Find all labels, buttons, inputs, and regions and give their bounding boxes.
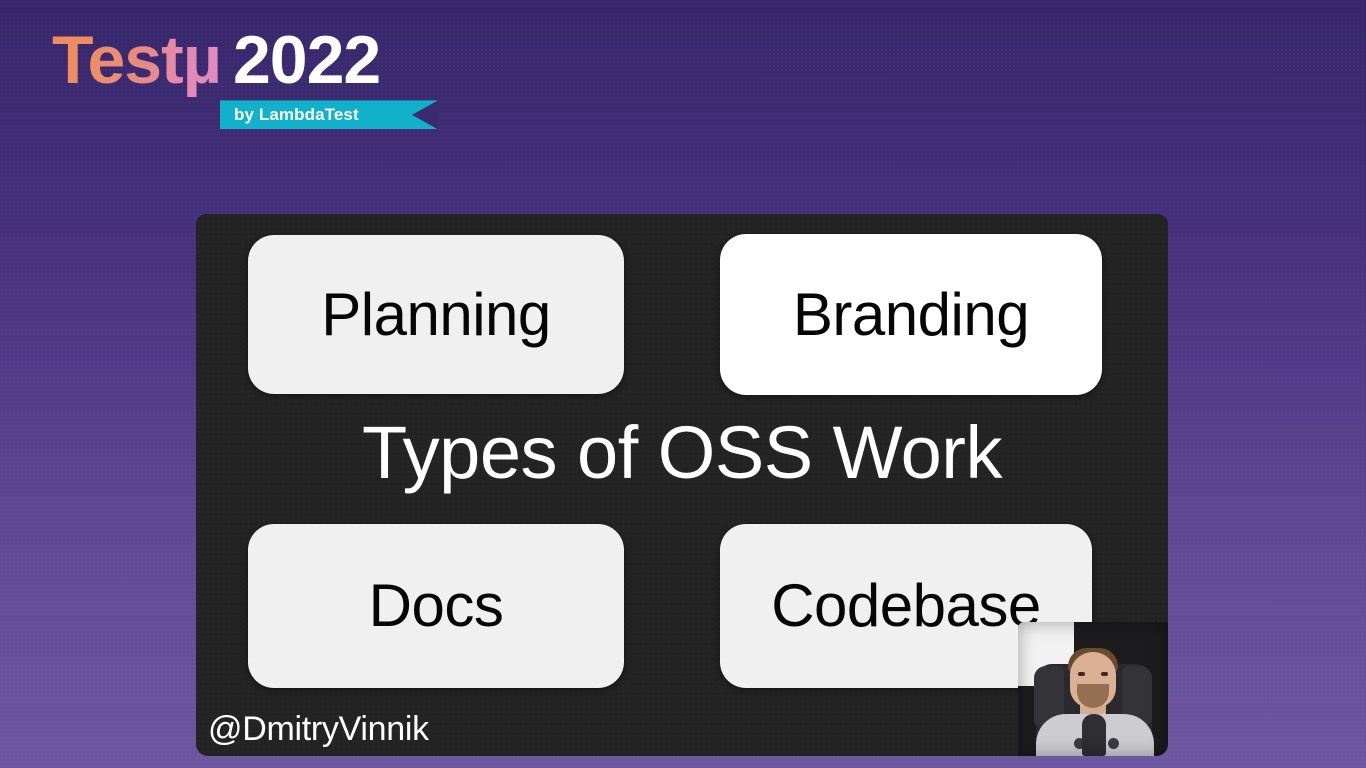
card-docs-label: Docs [369,576,504,636]
speaker-handle: @DmitryVinnik [208,710,429,749]
card-branding-label: Branding [793,285,1029,345]
webcam-microphone-mount-right [1108,738,1119,749]
presentation-slide: Planning Branding Types of OSS Work Docs… [196,214,1168,756]
microphone-icon [1082,714,1106,756]
card-docs: Docs [248,524,624,688]
slide-title: Types of OSS Work [196,416,1168,490]
event-logo-ribbon-label: by LambdaTest [234,105,359,125]
webcam-person-eye-left [1078,672,1085,676]
event-logo-wordmark: Testµ2022 [52,26,452,95]
card-codebase-label: Codebase [771,576,1041,636]
event-logo: Testµ2022 by LambdaTest [52,26,452,129]
event-logo-wordmark-year: 2022 [233,22,380,98]
card-branding: Branding [720,234,1102,395]
speaker-webcam-feed [1018,622,1168,756]
ribbon-notch-shape [412,100,438,129]
event-logo-wordmark-primary: Testµ [52,22,221,98]
card-planning-label: Planning [321,285,551,345]
event-logo-ribbon: by LambdaTest [220,100,438,129]
card-planning: Planning [248,235,624,394]
webcam-person-eye-right [1101,672,1108,676]
